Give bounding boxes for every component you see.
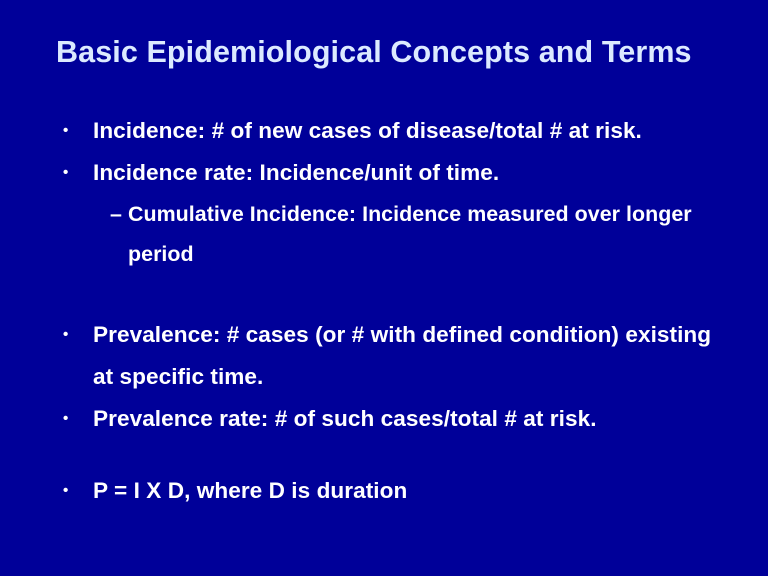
slide: Basic Epidemiological Concepts and Terms… [0,0,768,576]
bullet-item-prevalence-rate: • Prevalence rate: # of such cases/total… [0,398,768,440]
page-title: Basic Epidemiological Concepts and Terms [56,36,736,70]
blank-line [0,274,768,314]
bullet-dot-icon: • [63,314,87,356]
bullet-text: Incidence: # of new cases of disease/tot… [93,118,642,143]
bullet-text: Incidence rate: Incidence/unit of time. [93,160,499,185]
bullet-dash-icon: – [110,194,130,234]
bullet-dot-icon: • [63,398,87,440]
bullet-text: Prevalence: # cases (or # with defined c… [93,322,711,389]
sub-bullet-text: Cumulative Incidence: Incidence measured… [128,202,692,266]
bullet-item-incidence-rate: • Incidence rate: Incidence/unit of time… [0,152,768,194]
blank-line [0,440,768,470]
bullet-dot-icon: • [63,110,87,152]
bullet-item-incidence: • Incidence: # of new cases of disease/t… [0,110,768,152]
bullet-dot-icon: • [63,470,87,512]
bullet-text: Prevalence rate: # of such cases/total #… [93,406,597,431]
bullet-item-prevalence-formula: • P = I X D, where D is duration [0,470,768,512]
bullet-text: P = I X D, where D is duration [93,478,407,503]
slide-body: • Incidence: # of new cases of disease/t… [0,110,768,512]
bullet-dot-icon: • [63,152,87,194]
bullet-item-prevalence: • Prevalence: # cases (or # with defined… [0,314,768,398]
sub-bullet-item-cumulative-incidence: – Cumulative Incidence: Incidence measur… [0,194,768,274]
